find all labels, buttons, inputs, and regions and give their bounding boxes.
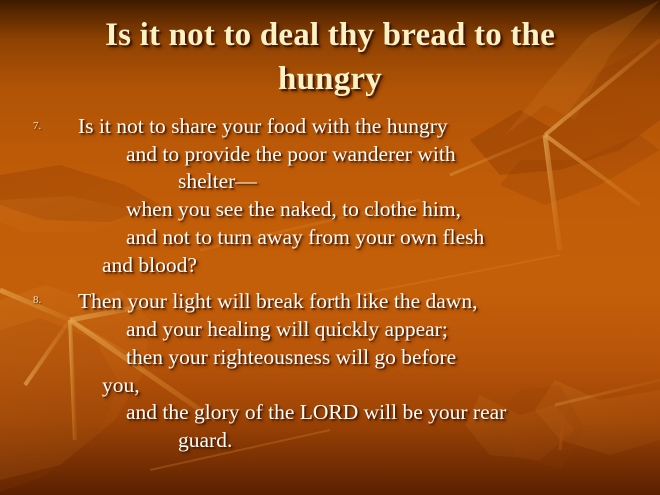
verse-line: and not to turn away from your own flesh: [78, 224, 650, 252]
verse-line: you,: [78, 372, 650, 400]
verse-line: and your healing will quickly appear;: [78, 316, 650, 344]
verse-line: and to provide the poor wanderer with: [78, 141, 650, 169]
verse-line: shelter—: [78, 168, 650, 196]
verse-number-7: 7.: [33, 120, 41, 132]
slide-title-line-1: Is it not to deal thy bread to the: [40, 14, 620, 58]
slide-title-line-2: hungry: [40, 58, 620, 102]
verse-line: and blood?: [78, 252, 650, 280]
verse-number-8: 8.: [33, 294, 41, 306]
slide-body: 7. Is it not to share your food with the…: [0, 113, 660, 455]
slide-title: Is it not to deal thy bread to the hungr…: [40, 14, 620, 101]
presentation-slide: Is it not to deal thy bread to the hungr…: [0, 0, 660, 495]
verse-line: when you see the naked, to clothe him,: [78, 196, 650, 224]
verse-line: guard.: [78, 427, 650, 455]
verse-line: Then your light will break forth like th…: [78, 288, 650, 316]
verse-lines-8: Then your light will break forth like th…: [0, 288, 660, 454]
verse-line: Is it not to share your food with the hu…: [78, 113, 650, 141]
verse-item-7: 7. Is it not to share your food with the…: [0, 113, 660, 279]
verse-line: then your righteousness will go before: [78, 344, 650, 372]
verse-lines-7: Is it not to share your food with the hu…: [0, 113, 660, 279]
verse-line: and the glory of the LORD will be your r…: [78, 399, 650, 427]
verse-item-8: 8. Then your light will break forth like…: [0, 288, 660, 454]
